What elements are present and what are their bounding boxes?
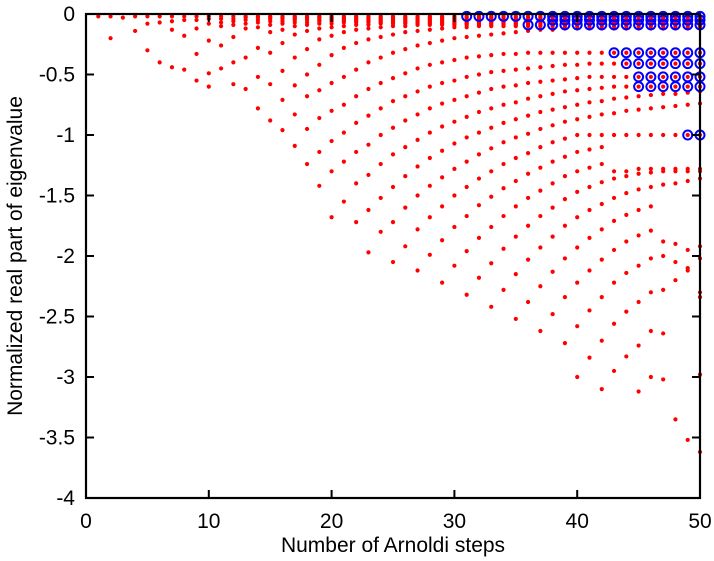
data-point-red — [673, 181, 677, 185]
data-point-red — [501, 140, 505, 144]
data-point-red — [440, 60, 444, 64]
data-point-red — [624, 95, 628, 99]
data-point-red — [268, 51, 272, 55]
data-point-red — [366, 60, 370, 64]
data-point-red — [465, 249, 469, 253]
data-point-red — [575, 169, 579, 173]
data-point-red — [587, 115, 591, 119]
data-point-red — [219, 66, 223, 70]
data-point-red — [575, 375, 579, 379]
data-point-red — [649, 185, 653, 189]
data-point-red — [452, 78, 456, 82]
data-point-red — [317, 26, 321, 30]
y-tick-label: -1.5 — [39, 185, 75, 208]
data-point-red — [563, 137, 567, 141]
data-point-red — [673, 278, 677, 282]
data-point-red — [342, 160, 346, 164]
data-point-red — [649, 106, 653, 110]
y-tick-label: -2 — [56, 245, 75, 268]
data-point-red — [403, 24, 407, 28]
x-tick-label: 0 — [80, 510, 92, 533]
data-point-red — [587, 62, 591, 66]
data-point-red — [452, 167, 456, 171]
data-point-red — [600, 295, 604, 299]
data-point-red — [305, 94, 309, 98]
data-point-red — [219, 17, 223, 21]
data-point-red — [686, 75, 690, 79]
data-point-red — [354, 68, 358, 72]
data-point-red — [538, 127, 542, 131]
y-tick-label: -4 — [56, 487, 75, 510]
data-point-red — [600, 86, 604, 90]
data-point-red — [354, 220, 358, 224]
data-point-red — [403, 118, 407, 122]
data-point-red — [428, 85, 432, 89]
data-point-red — [673, 75, 677, 79]
data-point-red — [415, 43, 419, 47]
data-point-red — [624, 85, 628, 89]
data-point-red — [649, 256, 653, 260]
data-point-red — [624, 51, 628, 55]
data-point-red — [673, 85, 677, 89]
data-point-red — [207, 39, 211, 43]
data-point-red — [563, 256, 567, 260]
data-point-red — [354, 94, 358, 98]
data-point-red — [440, 124, 444, 128]
data-point-red — [477, 34, 481, 38]
data-point-red — [256, 106, 260, 110]
data-point-red — [661, 92, 665, 96]
data-point-red — [637, 343, 641, 347]
data-point-red — [526, 132, 530, 136]
data-point-red — [587, 100, 591, 104]
data-point-red — [514, 235, 518, 239]
data-point-red — [575, 76, 579, 80]
data-point-red — [600, 62, 604, 66]
data-point-red — [403, 30, 407, 34]
data-point-red — [428, 253, 432, 257]
data-point-red — [440, 101, 444, 105]
data-point-red — [563, 341, 567, 345]
data-point-red — [330, 25, 334, 29]
data-point-red — [649, 133, 653, 137]
data-point-red — [330, 22, 334, 26]
data-point-red — [575, 117, 579, 121]
data-point-red — [587, 208, 591, 212]
data-point-red — [194, 52, 198, 56]
data-point-red — [563, 51, 567, 55]
data-point-red — [649, 75, 653, 79]
data-point-red — [366, 173, 370, 177]
data-point-red — [428, 106, 432, 110]
data-point-red — [526, 114, 530, 118]
data-point-red — [637, 233, 641, 237]
data-point-red — [121, 16, 125, 20]
data-point-red — [637, 300, 641, 304]
data-point-red — [563, 197, 567, 201]
data-point-red — [317, 37, 321, 41]
data-point-red — [256, 20, 260, 24]
data-point-red — [477, 203, 481, 207]
data-point-red — [551, 140, 555, 144]
data-point-red — [477, 54, 481, 58]
data-point-red — [465, 214, 469, 218]
data-point-red — [575, 150, 579, 154]
data-point-red — [342, 199, 346, 203]
data-point-red — [551, 78, 555, 82]
data-point-red — [415, 193, 419, 197]
y-tick-label: -1 — [56, 124, 75, 147]
data-point-red — [379, 106, 383, 110]
data-point-red — [686, 103, 690, 107]
data-point-red — [268, 19, 272, 23]
data-point-red — [514, 135, 518, 139]
data-point-red — [501, 186, 505, 190]
data-point-red — [452, 58, 456, 62]
data-point-red — [686, 133, 690, 137]
data-point-red — [489, 70, 493, 74]
data-point-red — [686, 85, 690, 89]
data-point-red — [452, 98, 456, 102]
data-point-red — [330, 53, 334, 57]
data-point-red — [612, 75, 616, 79]
data-point-red — [600, 112, 604, 116]
data-point-red — [366, 143, 370, 147]
data-point-red — [563, 89, 567, 93]
data-point-red — [575, 63, 579, 67]
data-point-red — [489, 32, 493, 36]
data-point-red — [551, 92, 555, 96]
data-point-red — [551, 123, 555, 127]
data-point-red — [551, 64, 555, 68]
data-point-red — [686, 268, 690, 272]
series-converged-ritz-values — [462, 12, 704, 140]
data-point-red — [661, 51, 665, 55]
data-point-red — [489, 261, 493, 265]
data-point-red — [366, 23, 370, 27]
data-point-red — [600, 99, 604, 103]
data-point-red — [489, 24, 493, 28]
data-point-red — [280, 28, 284, 32]
data-point-red — [501, 214, 505, 218]
data-point-red — [182, 18, 186, 22]
data-point-red — [624, 310, 628, 314]
data-point-red — [551, 312, 555, 316]
data-point-red — [551, 107, 555, 111]
data-point-red — [489, 106, 493, 110]
data-point-red — [477, 110, 481, 114]
data-point-red — [293, 144, 297, 148]
data-point-red — [649, 329, 653, 333]
x-tick-label: 20 — [320, 510, 343, 533]
data-point-red — [415, 29, 419, 33]
data-point-red — [563, 77, 567, 81]
data-point-red — [465, 75, 469, 79]
data-point-red — [649, 204, 653, 208]
data-point-red — [575, 51, 579, 55]
data-point-red — [526, 224, 530, 228]
data-point-red — [268, 23, 272, 27]
data-point-red — [440, 23, 444, 27]
data-point-red — [293, 83, 297, 87]
data-point-red — [501, 121, 505, 125]
data-point-red — [342, 103, 346, 107]
data-point-red — [477, 91, 481, 95]
data-point-red — [305, 47, 309, 51]
y-tick-label: -3 — [56, 366, 75, 389]
data-point-red — [317, 63, 321, 67]
data-point-red — [661, 85, 665, 89]
data-point-red — [415, 89, 419, 93]
data-point-red — [686, 51, 690, 55]
data-point-red — [600, 75, 604, 79]
data-point-red — [587, 51, 591, 55]
data-point-red — [612, 248, 616, 252]
data-point-red — [452, 141, 456, 145]
data-point-red — [231, 23, 235, 27]
data-point-red — [501, 103, 505, 107]
data-point-red — [575, 245, 579, 249]
data-point-red — [600, 162, 604, 166]
data-point-red — [293, 55, 297, 59]
data-point-red — [514, 117, 518, 121]
data-point-red — [624, 213, 628, 217]
data-point-red — [575, 190, 579, 194]
data-point-red — [514, 83, 518, 87]
data-point-red — [415, 66, 419, 70]
data-point-red — [465, 160, 469, 164]
data-layer — [96, 12, 704, 454]
data-point-red — [440, 175, 444, 179]
scatter-plot: 010203040500-0.5-1-1.5-2-2.5-3-3.5-4Numb… — [0, 0, 714, 561]
data-point-red — [551, 206, 555, 210]
data-point-red — [354, 150, 358, 154]
data-point-red — [415, 227, 419, 231]
data-point-red — [649, 85, 653, 89]
data-point-red — [391, 24, 395, 28]
data-point-red — [477, 72, 481, 76]
data-point-red — [563, 120, 567, 124]
data-point-red — [391, 185, 395, 189]
data-point-red — [538, 166, 542, 170]
data-point-red — [563, 63, 567, 67]
data-point-red — [514, 204, 518, 208]
data-point-red — [182, 34, 186, 38]
data-point-red — [612, 369, 616, 373]
data-point-red — [501, 85, 505, 89]
data-point-red — [280, 128, 284, 132]
data-point-red — [452, 25, 456, 29]
data-point-red — [575, 133, 579, 137]
data-point-red — [440, 281, 444, 285]
data-point-red — [293, 32, 297, 36]
data-point-red — [465, 293, 469, 297]
data-point-red — [415, 138, 419, 142]
data-point-red — [624, 174, 628, 178]
data-point-red — [244, 55, 248, 59]
data-point-red — [317, 184, 321, 188]
data-point-red — [600, 387, 604, 391]
data-point-red — [514, 30, 518, 34]
data-point-red — [489, 305, 493, 309]
data-point-red — [330, 109, 334, 113]
data-point-red — [256, 46, 260, 50]
data-point-red — [649, 51, 653, 55]
data-point-red — [440, 149, 444, 153]
data-point-red — [538, 51, 542, 55]
data-point-red — [415, 268, 419, 272]
data-point-red — [305, 29, 309, 33]
data-point-red — [587, 356, 591, 360]
data-point-red — [170, 28, 174, 32]
data-point-red — [587, 185, 591, 189]
data-point-red — [489, 53, 493, 57]
data-point-red — [342, 130, 346, 134]
data-point-red — [686, 438, 690, 442]
data-point-red — [145, 48, 149, 52]
data-point-red — [612, 322, 616, 326]
data-point-red — [538, 284, 542, 288]
data-point-red — [538, 110, 542, 114]
data-point-red — [489, 195, 493, 199]
data-point-red — [415, 112, 419, 116]
data-point-red — [268, 30, 272, 34]
data-point-red — [673, 104, 677, 108]
data-point-red — [391, 51, 395, 55]
data-point-red — [514, 100, 518, 104]
data-point-red — [465, 55, 469, 59]
data-point-red — [649, 375, 653, 379]
data-point-red — [514, 317, 518, 321]
data-point-red — [268, 118, 272, 122]
data-point-red — [551, 235, 555, 239]
data-point-red — [686, 179, 690, 183]
data-point-red — [280, 98, 284, 102]
data-point-red — [612, 281, 616, 285]
data-point-red — [526, 81, 530, 85]
data-point-red — [637, 94, 641, 98]
data-point-red — [661, 377, 665, 381]
data-point-red — [330, 139, 334, 143]
data-point-red — [391, 220, 395, 224]
y-tick-label: -3.5 — [39, 427, 75, 450]
data-point-red — [563, 105, 567, 109]
data-point-red — [551, 51, 555, 55]
data-point-red — [293, 112, 297, 116]
data-point-red — [600, 202, 604, 206]
data-point-red — [391, 126, 395, 130]
data-point-red — [354, 23, 358, 27]
data-point-red — [624, 354, 628, 358]
data-point-red — [637, 187, 641, 191]
data-point-red — [514, 52, 518, 56]
data-point-red — [428, 184, 432, 188]
data-point-red — [465, 115, 469, 119]
data-point-red — [280, 69, 284, 73]
data-point-red — [673, 417, 677, 421]
data-point-red — [354, 181, 358, 185]
data-point-red — [219, 43, 223, 47]
data-point-red — [428, 23, 432, 27]
data-point-red — [489, 146, 493, 150]
data-point-red — [612, 133, 616, 137]
data-point-red — [403, 174, 407, 178]
x-axis-label: Number of Arnoldi steps — [281, 534, 505, 557]
data-point-red — [465, 185, 469, 189]
data-point-red — [587, 147, 591, 151]
x-tick-label: 50 — [688, 510, 711, 533]
data-point-red — [600, 145, 604, 149]
data-point-red — [538, 80, 542, 84]
data-point-red — [330, 215, 334, 219]
data-point-red — [514, 179, 518, 183]
data-point-red — [170, 19, 174, 23]
data-point-red — [391, 152, 395, 156]
data-point-red — [207, 22, 211, 26]
data-point-red — [244, 22, 248, 26]
data-point-red — [317, 116, 321, 120]
data-point-red — [624, 239, 628, 243]
data-point-red — [403, 206, 407, 210]
data-point-red — [649, 93, 653, 97]
data-point-red — [637, 208, 641, 212]
data-point-red — [649, 170, 653, 174]
data-point-red — [600, 227, 604, 231]
data-point-red — [342, 20, 346, 24]
data-point-red — [538, 245, 542, 249]
data-point-red — [538, 189, 542, 193]
data-point-red — [108, 36, 112, 40]
data-point-red — [194, 18, 198, 22]
data-point-red — [280, 41, 284, 45]
data-point-red — [366, 208, 370, 212]
figure: 010203040500-0.5-1-1.5-2-2.5-3-3.5-4Numb… — [0, 0, 714, 561]
data-point-red — [575, 324, 579, 328]
data-point-red — [501, 24, 505, 28]
data-point-red — [637, 75, 641, 79]
data-point-red — [661, 288, 665, 292]
data-point-red — [133, 29, 137, 33]
data-point-red — [440, 204, 444, 208]
y-axis-label: Normalized real part of eigenvalue — [4, 96, 27, 416]
data-point-red — [661, 331, 665, 335]
data-point-red — [194, 78, 198, 82]
data-point-red — [477, 130, 481, 134]
data-point-red — [244, 87, 248, 91]
y-tick-label: 0 — [63, 3, 75, 26]
data-point-red — [465, 94, 469, 98]
data-point-red — [330, 81, 334, 85]
data-point-red — [489, 169, 493, 173]
data-point-red — [673, 169, 677, 173]
data-point-red — [342, 30, 346, 34]
data-point-red — [538, 65, 542, 69]
data-point-red — [379, 25, 383, 29]
data-point-red — [661, 105, 665, 109]
data-point-red — [612, 176, 616, 180]
data-point-red — [477, 176, 481, 180]
data-point-red — [587, 133, 591, 137]
data-point-red — [379, 81, 383, 85]
data-point-red — [317, 88, 321, 92]
data-point-red — [379, 162, 383, 166]
data-point-red — [219, 20, 223, 24]
data-point-red — [342, 46, 346, 50]
data-point-red — [452, 193, 456, 197]
data-point-red — [563, 155, 567, 159]
data-point-red — [501, 52, 505, 56]
data-point-red — [182, 68, 186, 72]
